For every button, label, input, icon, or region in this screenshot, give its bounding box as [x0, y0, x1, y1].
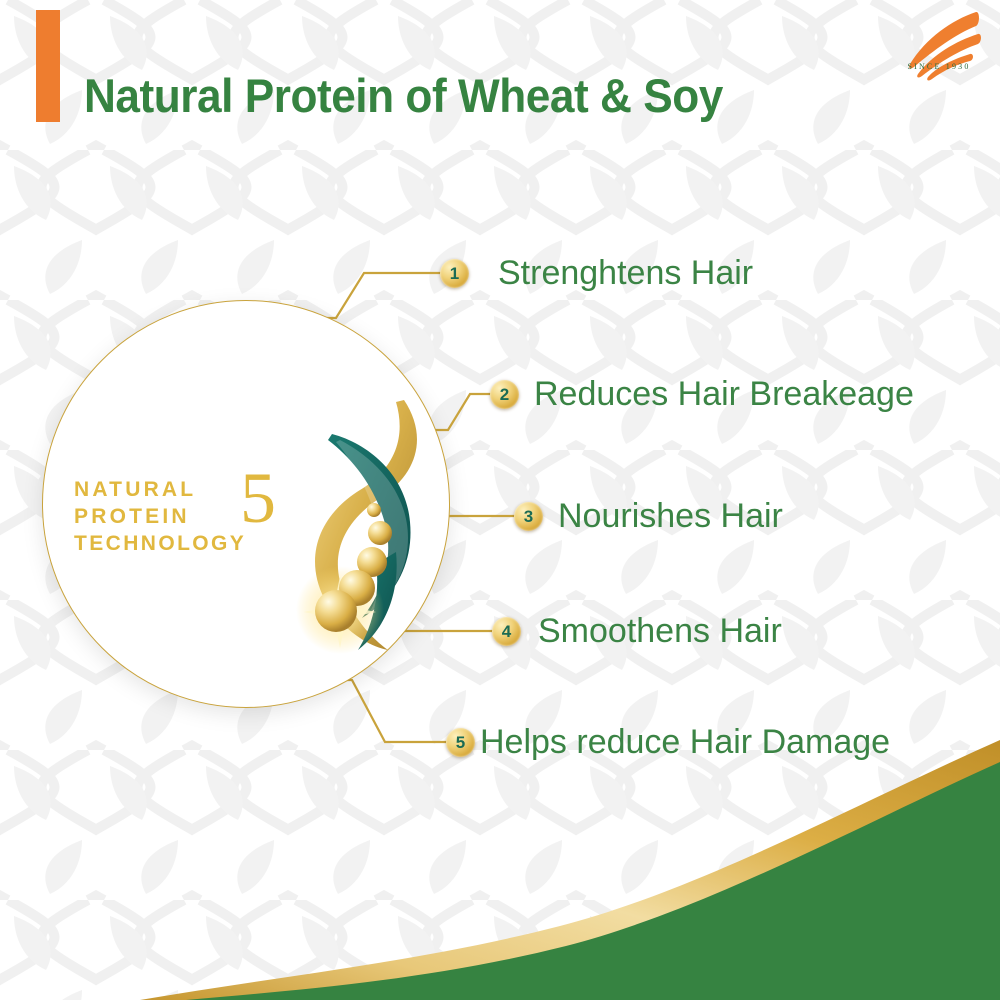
- brand-logo-icon: [896, 8, 982, 86]
- benefit-label-2: Reduces Hair Breakeage: [534, 375, 914, 414]
- page-title: Natural Protein of Wheat & Soy: [84, 68, 723, 123]
- benefit-badge-3[interactable]: 3: [514, 502, 543, 531]
- emblem-number-five: 5: [240, 462, 276, 534]
- benefit-badge-4[interactable]: 4: [492, 617, 521, 646]
- brand-since-label: SINCE 1930: [896, 62, 982, 71]
- benefit-label-4: Smoothens Hair: [538, 612, 782, 651]
- benefit-badge-2[interactable]: 2: [490, 380, 519, 409]
- dna-helix-leaf-icon: [288, 392, 453, 662]
- benefit-badge-1[interactable]: 1: [440, 259, 469, 288]
- benefit-label-1: Strenghtens Hair: [498, 254, 753, 293]
- footer-wave: [0, 740, 1000, 1000]
- benefit-label-3: Nourishes Hair: [558, 497, 783, 536]
- promo-banner: Natural Protein of Wheat & Soy SINCE 193…: [0, 0, 1000, 1000]
- title-accent-bar: [36, 10, 60, 122]
